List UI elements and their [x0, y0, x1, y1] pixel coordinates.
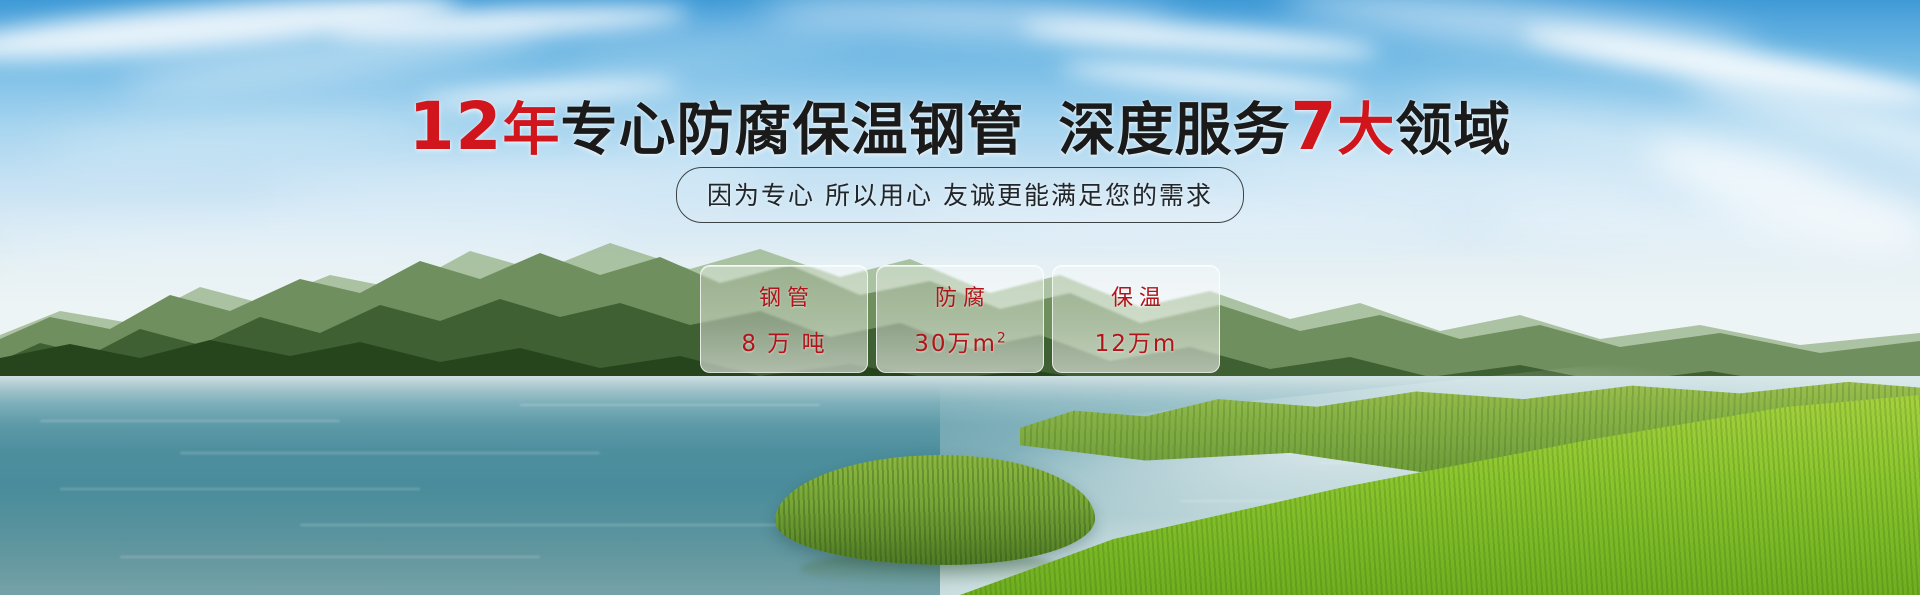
water-ripple: [120, 556, 540, 558]
stat-card-value: 12万m: [1095, 324, 1178, 358]
stat-card-value: 30万m2: [914, 324, 1006, 358]
stat-card-value-text: 30万m: [914, 331, 997, 357]
stat-card-label: 防腐: [929, 280, 991, 312]
headline-years-unit: 年: [502, 97, 560, 163]
stat-card-value: 8 万 吨: [741, 324, 826, 358]
headline-segment-fields: 领域: [1395, 97, 1511, 163]
water-ripple: [40, 420, 340, 422]
water-ripple: [300, 524, 780, 526]
stat-card-anticorrosion[interactable]: 防腐 30万m2: [876, 265, 1044, 373]
headline-segment-main: 专心防腐保温钢管: [560, 97, 1024, 163]
water-ripple: [520, 404, 820, 406]
stat-card-steel-pipe[interactable]: 钢管 8 万 吨: [700, 265, 868, 373]
stat-card-label: 钢管: [753, 280, 815, 312]
stat-card-value-superscript: 2: [997, 330, 1006, 346]
hero-banner: 12年专心防腐保温钢管深度服务7大领域 因为专心 所以用心 友诚更能满足您的需求…: [0, 0, 1920, 595]
headline-years-number: 12: [409, 88, 503, 165]
stat-cards: 钢管 8 万 吨 防腐 30万m2 保温 12万m: [0, 265, 1920, 373]
stat-card-insulation[interactable]: 保温 12万m: [1052, 265, 1220, 373]
subtitle-container: 因为专心 所以用心 友诚更能满足您的需求: [0, 167, 1920, 223]
water-ripple: [180, 452, 600, 454]
headline: 12年专心防腐保温钢管深度服务7大领域: [0, 84, 1920, 166]
subtitle-pill: 因为专心 所以用心 友诚更能满足您的需求: [676, 167, 1244, 223]
headline-fields-unit: 大: [1337, 97, 1395, 163]
headline-segment-service: 深度服务: [1058, 97, 1290, 163]
stat-card-label: 保温: [1105, 280, 1167, 312]
headline-fields-number: 7: [1290, 88, 1337, 165]
water-ripple: [60, 488, 420, 490]
stat-card-value-text: 8 万 吨: [741, 331, 826, 357]
stat-card-value-text: 12万m: [1095, 331, 1178, 357]
